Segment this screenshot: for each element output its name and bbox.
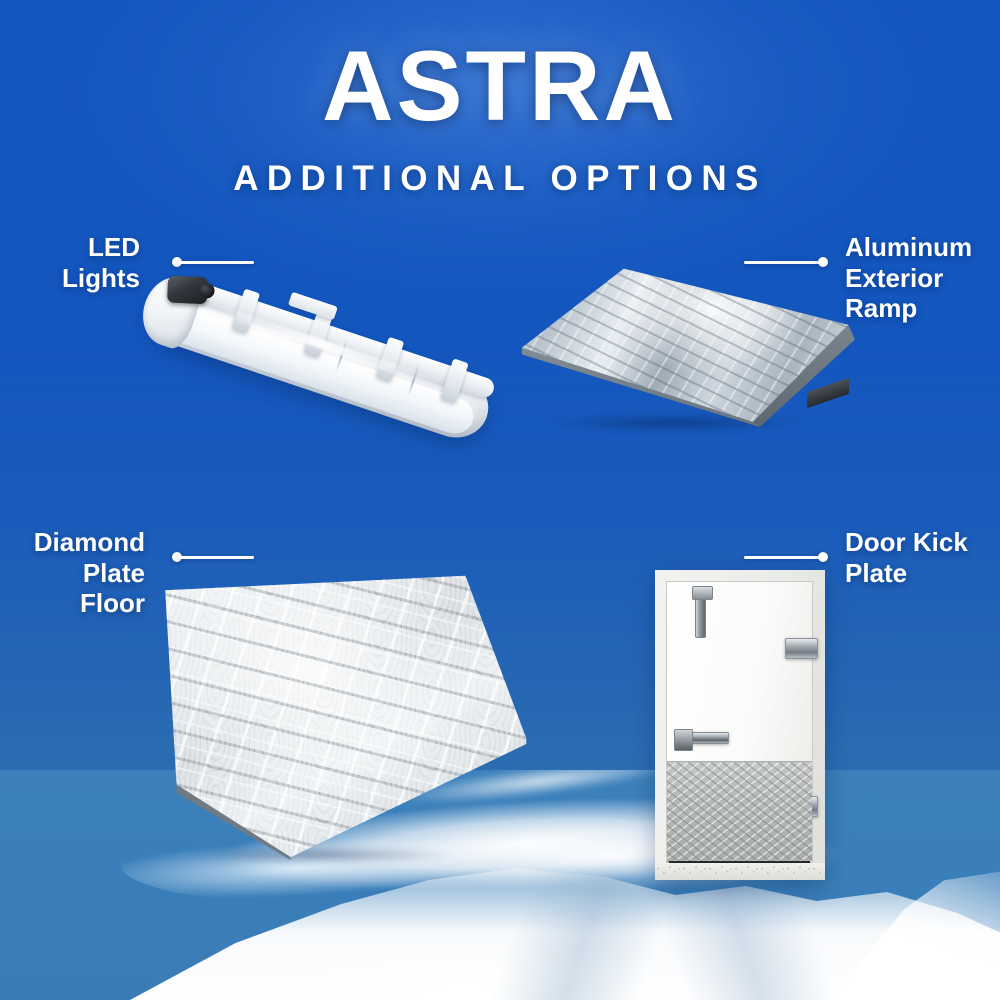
leader-bar [178, 261, 254, 264]
callout-label-diamond-plate-floor: Diamond Plate Floor [0, 527, 145, 619]
product-image-aluminum-ramp [515, 262, 855, 427]
callout-label-led-lights: LED Lights [0, 232, 140, 293]
callout-label-aluminum-exterior-ramp: Aluminum Exterior Ramp [845, 232, 1000, 324]
floor-diamond-highlights [150, 570, 530, 860]
callout-label-door-kick-plate: Door Kick Plate [845, 527, 1000, 588]
leader-dot-icon [818, 552, 828, 562]
ramp-anchor-tab [807, 378, 849, 408]
page-title: ASTRA [0, 36, 1000, 135]
led-cable-gland [167, 276, 208, 305]
callout-led-lights: LED Lights [0, 232, 140, 293]
floor-sheet-graphic [150, 570, 530, 860]
leader-line-led-lights [172, 257, 254, 267]
led-fixture-graphic [102, 246, 542, 553]
leader-line-diamond-plate-floor [172, 552, 254, 562]
door-threshold-floor [655, 863, 825, 880]
callout-aluminum-exterior-ramp: Aluminum Exterior Ramp [845, 232, 1000, 324]
leader-bar [744, 556, 822, 559]
ramp-graphic [515, 262, 855, 427]
callout-door-kick-plate: Door Kick Plate [845, 527, 1000, 588]
poster-header: ASTRA ADDITIONAL OPTIONS [0, 0, 1000, 196]
leader-dot-icon [818, 257, 828, 267]
door-top-latch-bolt [695, 594, 706, 638]
door-kick-plate [667, 761, 812, 862]
door-frame [655, 570, 825, 880]
floor-drop-shadow [188, 846, 454, 864]
product-image-door-kick-plate [655, 570, 825, 880]
product-image-diamond-plate-floor [150, 570, 530, 860]
door-panel [666, 581, 813, 863]
leader-line-door-kick-plate [744, 552, 828, 562]
leader-line-aluminum-exterior-ramp [744, 257, 828, 267]
door-hinge-top [785, 638, 818, 659]
poster-canvas: ASTRA ADDITIONAL OPTIONS [0, 0, 1000, 1000]
page-subtitle: ADDITIONAL OPTIONS [0, 161, 1000, 196]
door-handle-latch [677, 732, 729, 744]
leader-bar [178, 556, 254, 559]
callout-diamond-plate-floor: Diamond Plate Floor [0, 527, 145, 619]
product-image-led-lights [140, 262, 540, 452]
leader-bar [744, 261, 822, 264]
